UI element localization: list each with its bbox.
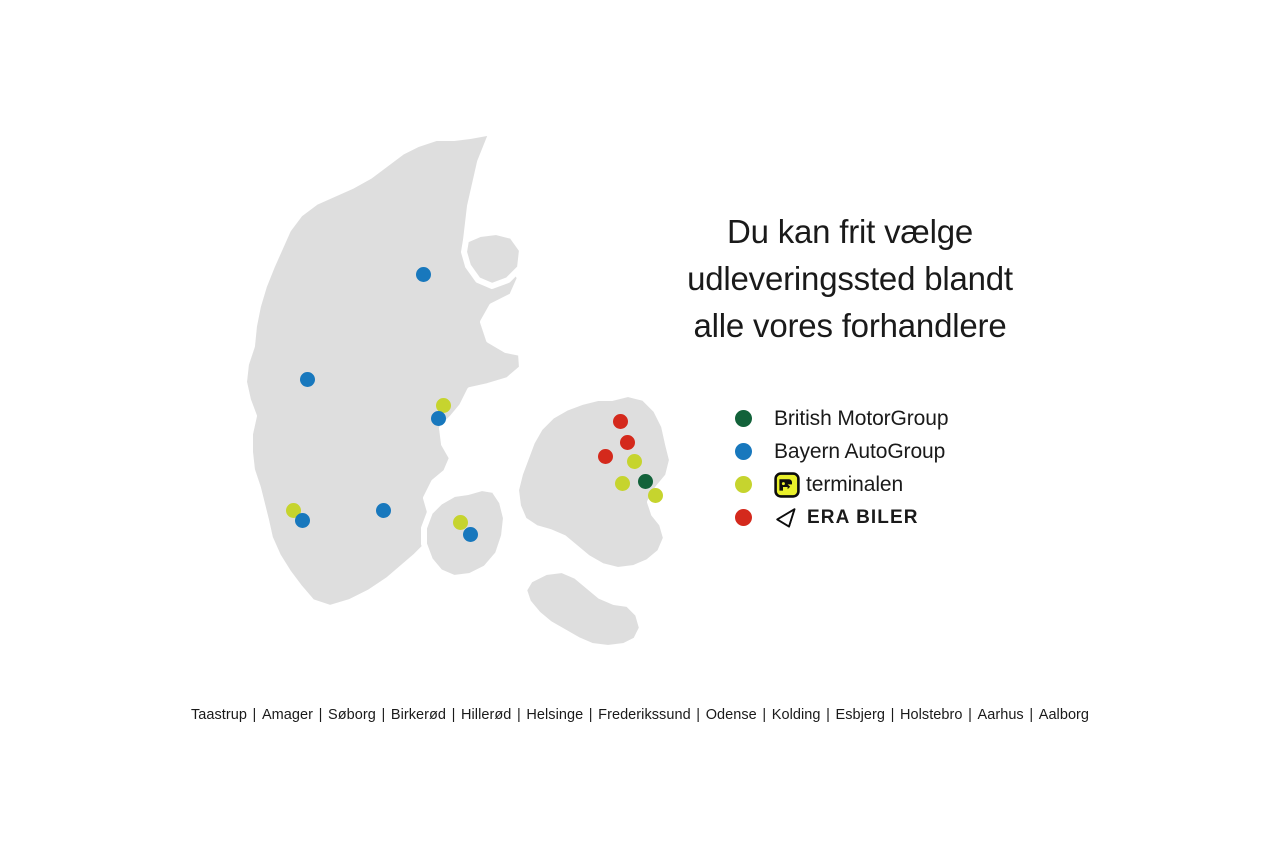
- city-separator: |: [247, 707, 262, 723]
- map-shapes: [230, 110, 710, 680]
- dot-hillerod-era[interactable]: [620, 435, 635, 450]
- brand-legend: British MotorGroup Bayern AutoGroup term…: [735, 402, 1065, 534]
- denmark-map: [230, 110, 710, 680]
- city-separator: |: [446, 707, 461, 723]
- city-separator: |: [691, 707, 706, 723]
- city-separator: |: [821, 707, 836, 723]
- terminalen-logo-icon: [774, 472, 800, 498]
- city-list: Taastrup | Amager | Søborg | Birkerød | …: [0, 705, 1280, 725]
- city-name: Frederikssund: [598, 707, 691, 723]
- legend-item-era-biler[interactable]: ERA BILER: [735, 501, 1065, 534]
- legend-label-terminalen: terminalen: [806, 474, 903, 496]
- dot-odense-terminalen[interactable]: [453, 515, 468, 530]
- city-name: Helsinge: [526, 707, 583, 723]
- city-separator: |: [963, 707, 978, 723]
- dot-helsinge-era[interactable]: [613, 414, 628, 429]
- city-name: Amager: [262, 707, 313, 723]
- dot-amager-terminalen[interactable]: [648, 488, 663, 503]
- dot-aarhus-bayern[interactable]: [431, 411, 446, 426]
- dot-holstebro-bayern[interactable]: [300, 372, 315, 387]
- city-name: Kolding: [772, 707, 821, 723]
- city-name: Esbjerg: [835, 707, 885, 723]
- legend-swatch-terminalen: [735, 476, 752, 493]
- city-name: Birkerød: [391, 707, 446, 723]
- legend-item-terminalen[interactable]: terminalen: [735, 468, 1065, 501]
- dot-frederikssund-era[interactable]: [598, 449, 613, 464]
- city-name: Odense: [706, 707, 757, 723]
- dot-aalborg-bayern[interactable]: [416, 267, 431, 282]
- landmass-lolland-falster: [524, 570, 642, 648]
- dot-odense-bayern[interactable]: [463, 527, 478, 542]
- legend-swatch-british-motorgroup: [735, 410, 752, 427]
- city-name: Søborg: [328, 707, 376, 723]
- legend-label-british-motorgroup: British MotorGroup: [774, 408, 948, 430]
- city-separator: |: [313, 707, 328, 723]
- city-separator: |: [1024, 707, 1039, 723]
- page-title: Du kan frit vælge udleveringssted blandt…: [620, 208, 1080, 349]
- city-separator: |: [511, 707, 526, 723]
- legend-item-british-motorgroup[interactable]: British MotorGroup: [735, 402, 1065, 435]
- city-separator: |: [757, 707, 772, 723]
- dot-kolding-bayern[interactable]: [376, 503, 391, 518]
- legend-label-bayern-autogroup: Bayern AutoGroup: [774, 441, 945, 463]
- era-biler-logo-icon: [774, 507, 798, 529]
- city-separator: |: [376, 707, 391, 723]
- dot-birkerod-terminalen[interactable]: [627, 454, 642, 469]
- dot-copenhagen-british[interactable]: [638, 474, 653, 489]
- legend-label-era-biler: ERA BILER: [807, 507, 919, 529]
- legend-swatch-era-biler: [735, 509, 752, 526]
- city-name: Hillerød: [461, 707, 511, 723]
- legend-swatch-bayern-autogroup: [735, 443, 752, 460]
- city-name: Taastrup: [191, 707, 247, 723]
- legend-item-bayern-autogroup[interactable]: Bayern AutoGroup: [735, 435, 1065, 468]
- city-name: Holstebro: [900, 707, 963, 723]
- city-name: Aalborg: [1039, 707, 1089, 723]
- poster-canvas: Du kan frit vælge udleveringssted blandt…: [0, 0, 1280, 853]
- city-separator: |: [885, 707, 900, 723]
- dot-esbjerg-bayern[interactable]: [295, 513, 310, 528]
- dot-soborg-terminalen[interactable]: [615, 476, 630, 491]
- city-name: Aarhus: [977, 707, 1023, 723]
- city-separator: |: [583, 707, 598, 723]
